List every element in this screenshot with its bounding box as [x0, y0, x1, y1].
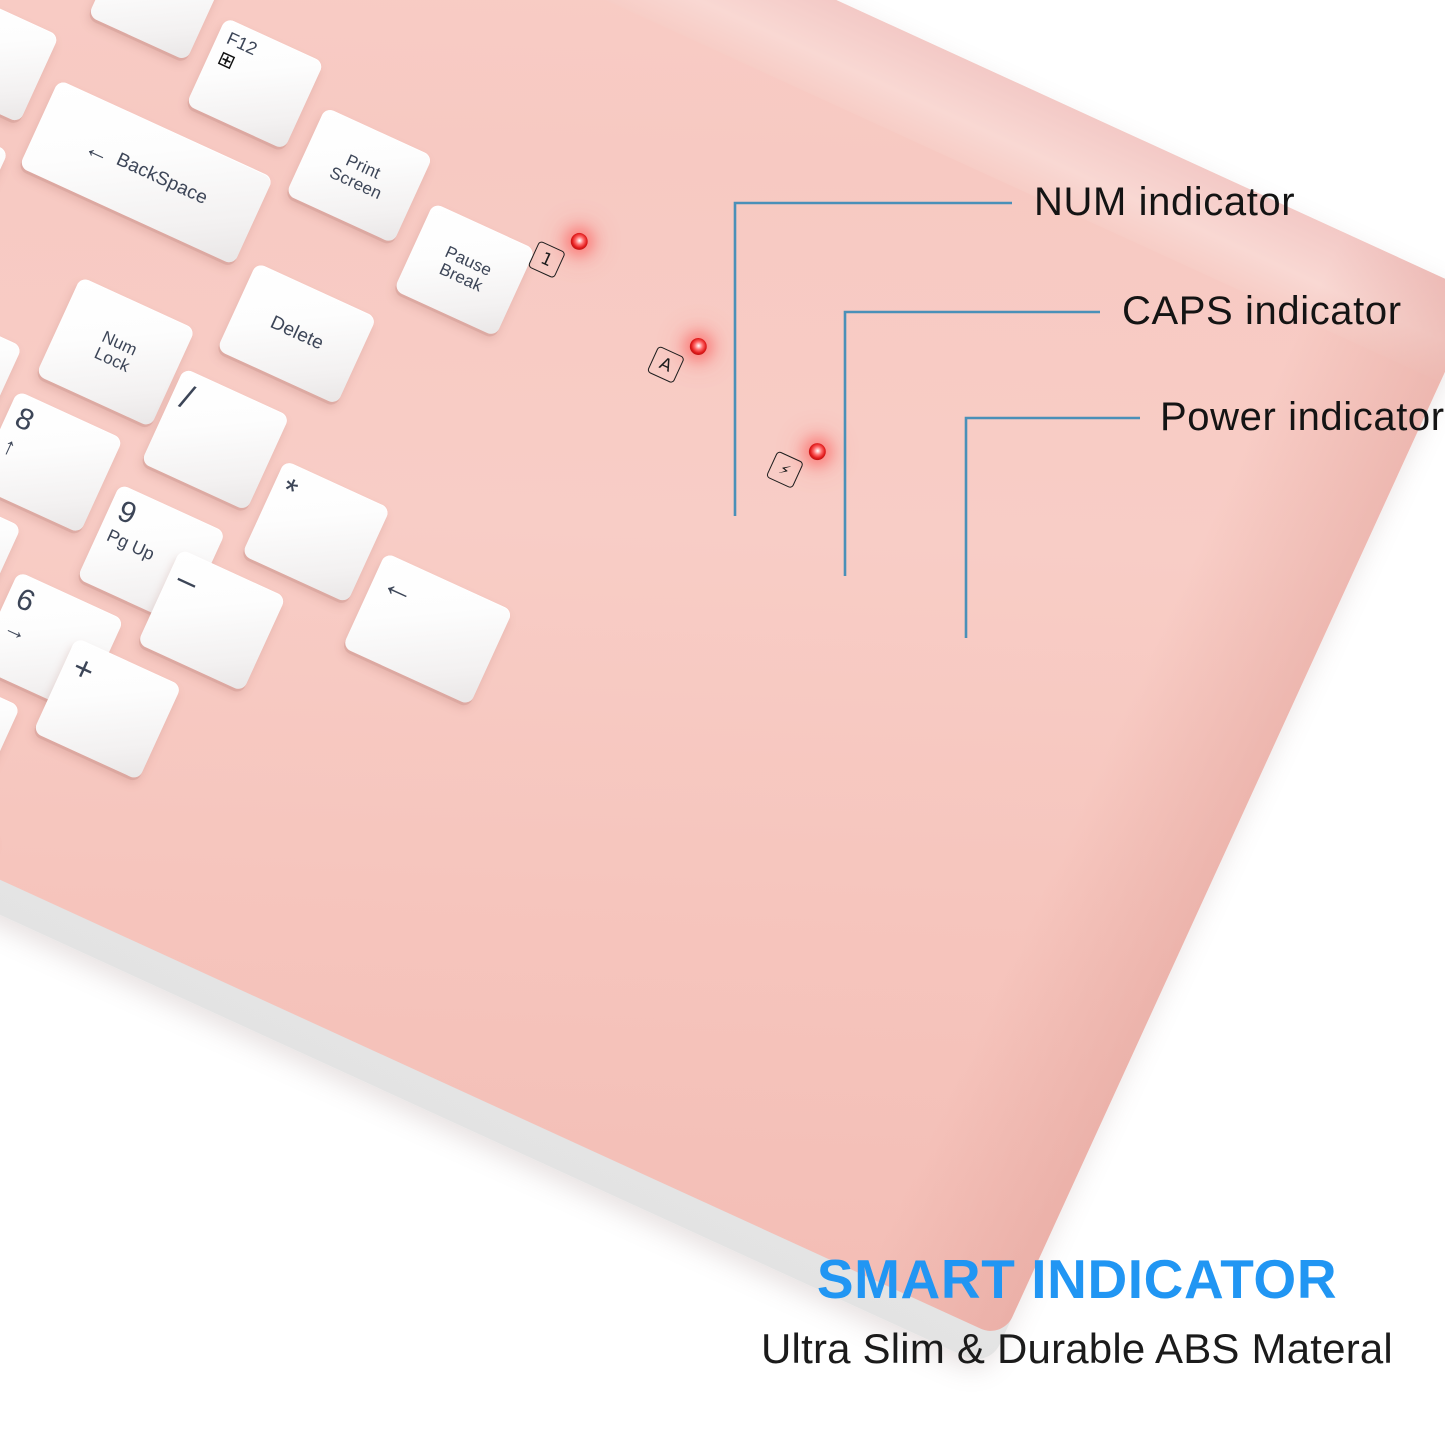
key-delete[interactable]: Delete: [217, 263, 377, 405]
headline-subtitle: Ultra Slim & Durable ABS Materal: [727, 1325, 1427, 1373]
key-print-screen[interactable]: Print Screen: [286, 107, 433, 243]
power-indicator-led: [806, 440, 829, 463]
key-backspace-arrow: ←: [80, 132, 116, 168]
left-arrow-key-icon: ←: [376, 564, 422, 612]
key-print-screen-label: Print Screen: [327, 147, 392, 203]
num-lock-badge-icon: 1: [528, 240, 566, 278]
callout-label-num: NUM indicator: [1034, 180, 1295, 225]
key-pause-break[interactable]: Pause Break: [394, 203, 536, 337]
key-numpad-multiply-label: *: [275, 472, 303, 511]
key-backspace-label: BackSpace: [113, 150, 211, 209]
key-numpad-multiply[interactable]: *: [242, 460, 391, 603]
key-arrow-left[interactable]: ←: [342, 553, 513, 706]
caps-lock-badge-icon: A: [647, 345, 685, 383]
key-backslash[interactable]: |\: [0, 106, 9, 238]
key-numpad-divide-label: /: [175, 379, 199, 416]
product-image-canvas: F9♠ F10■ F11▤ F12⊞ Print Screen Pause Br…: [0, 0, 1445, 1443]
power-bolt-badge-icon: ⚡: [766, 451, 804, 489]
marketing-headline-block: SMART INDICATOR Ultra Slim & Durable ABS…: [727, 1251, 1427, 1373]
key-f12[interactable]: F12⊞: [186, 17, 324, 149]
up-arrow-icon: ↑: [0, 433, 24, 464]
key-numpad-8[interactable]: 8↑: [0, 391, 123, 534]
key-pause-break-label: Pause Break: [435, 243, 495, 297]
key-f11[interactable]: F11▤: [88, 0, 226, 61]
key-numpad-8-digit: 8: [10, 402, 39, 438]
key-num-lock-label: Num Lock: [91, 328, 140, 377]
caps-indicator-led: [687, 335, 710, 358]
num-indicator-led: [568, 230, 591, 253]
key-numpad-plus-label: +: [67, 649, 101, 691]
key-numpad-minus-label: –: [171, 560, 204, 601]
headline-title: SMART INDICATOR: [727, 1251, 1427, 1309]
callout-label-power: Power indicator: [1160, 395, 1445, 440]
key-delete-label: Delete: [267, 313, 327, 355]
callout-label-caps: CAPS indicator: [1122, 289, 1402, 334]
